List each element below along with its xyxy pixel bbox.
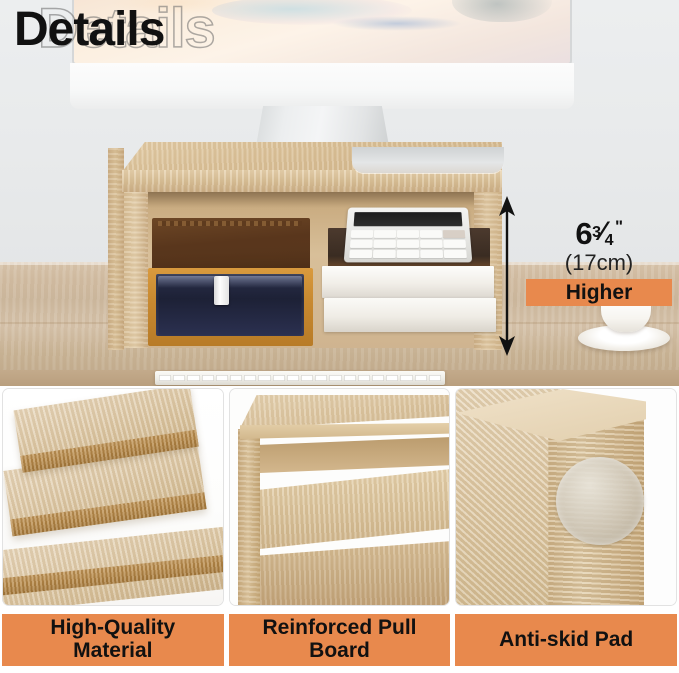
riser-corner-post [238,429,260,606]
height-metric: (17cm) [528,250,670,275]
riser-left-leg [122,192,148,348]
riser-stand-cutout [352,147,504,173]
higher-badge: Higher [526,279,672,306]
book-white-2 [324,298,496,332]
calculator-keypad [349,230,467,258]
drawer-handle [214,276,229,305]
caption-text-anti-skid: Anti-skid Pad [499,629,633,652]
height-callout: 63⁄4" (17cm) [528,218,670,275]
caption-bar-anti-skid: Anti-skid Pad [455,614,677,666]
feature-panels: High-Quality Material Reinforced Pull Bo… [0,388,679,673]
page-title: Details Details [14,6,414,64]
photo-pull-board [229,388,451,606]
calculator-display [354,212,463,226]
inch-symbol: " [615,218,623,235]
wallpaper-blob-3 [452,0,552,22]
fraction-numerator: 3 [592,225,600,241]
height-value: 63⁄4" [528,218,670,249]
fraction-denominator: 4 [605,233,613,249]
anti-skid-pad-circle [556,457,644,545]
monitor-bezel [70,63,574,109]
feature-panel-material: High-Quality Material [2,388,224,673]
drawer-top-panel [152,218,310,272]
riser-inner-shadow [148,192,474,208]
height-measurement-arrow [496,196,518,356]
higher-badge-label: Higher [566,281,633,305]
product-details-image: 63⁄4" (17cm) Higher Details Details High… [0,0,679,673]
calculator [344,208,473,263]
riser-top-front-edge [122,170,502,192]
height-fraction: 3⁄4 [592,218,613,245]
stacked-books [322,228,497,348]
feature-panel-pull-board: Reinforced Pull Board [229,388,451,673]
photo-wood-boards [2,388,224,606]
book-white-1 [322,266,494,298]
drawer-gloss-highlight [158,276,302,288]
page-title-text: Details [14,6,164,54]
caption-text-pull-board: Reinforced Pull Board [235,617,445,662]
caption-bar-pull-board: Reinforced Pull Board [229,614,451,666]
caption-text-material: High-Quality Material [8,617,218,662]
height-whole: 6 [575,218,592,249]
photo-anti-skid-pad [455,388,677,606]
feature-panel-anti-skid: Anti-skid Pad [455,388,677,673]
hero-photo: 63⁄4" (17cm) Higher Details Details [0,0,679,386]
caption-bar-material: High-Quality Material [2,614,224,666]
keyboard [155,371,445,385]
drawer-organizer [148,218,313,346]
